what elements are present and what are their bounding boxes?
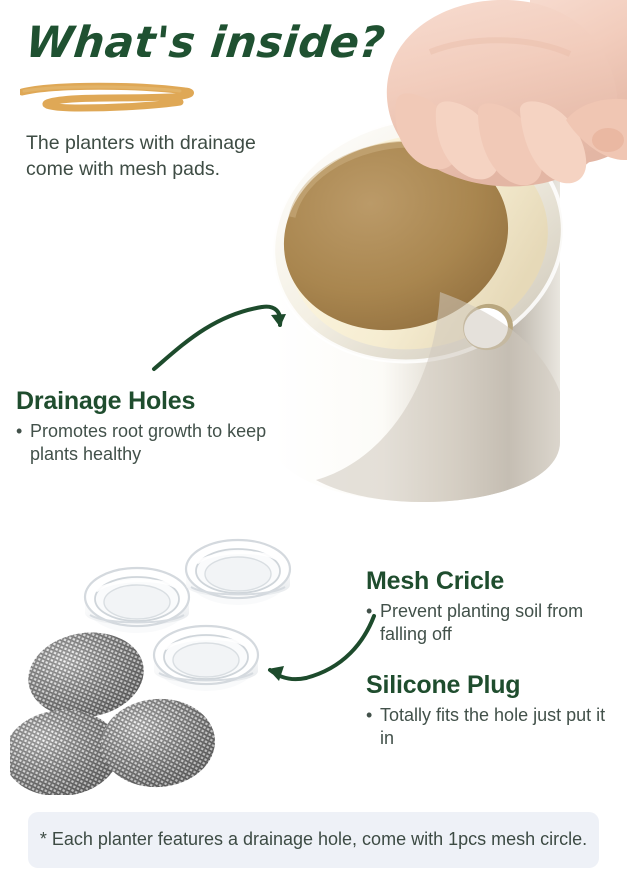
plug-bullet-list: • Totally fits the hole just put it in bbox=[366, 704, 624, 752]
silicone-plug-item bbox=[186, 540, 290, 605]
mesh-circles-and-silicone-plugs-photo bbox=[10, 525, 370, 795]
bullet-text: Promotes root growth to keep plants heal… bbox=[30, 421, 266, 465]
drainage-bullet-list: • Promotes root growth to keep plants he… bbox=[16, 420, 276, 468]
list-item: • Prevent planting soil from falling off bbox=[366, 600, 616, 648]
bullet-text: Totally fits the hole just put it in bbox=[380, 705, 605, 749]
section-mesh-circle: Mesh Cricle • Prevent planting soil from… bbox=[366, 568, 616, 647]
silicone-plug-item bbox=[154, 626, 258, 691]
list-item: • Totally fits the hole just put it in bbox=[366, 704, 624, 752]
parts-photo bbox=[10, 525, 370, 795]
silicone-plug-item bbox=[85, 568, 189, 633]
hand-holding-ceramic-planter-photo bbox=[230, 0, 627, 512]
pot-photo bbox=[230, 0, 627, 512]
infographic-page: What's inside? The planters with drainag… bbox=[0, 0, 627, 879]
footer-note-panel: * Each planter features a drainage hole,… bbox=[28, 812, 599, 868]
footer-note-text: * Each planter features a drainage hole,… bbox=[40, 828, 587, 851]
drainage-heading: Drainage Holes bbox=[16, 388, 276, 416]
bullet-icon: • bbox=[366, 600, 372, 624]
mesh-bullet-list: • Prevent planting soil from falling off bbox=[366, 600, 616, 648]
list-item: • Promotes root growth to keep plants he… bbox=[16, 420, 276, 468]
mesh-circle-item bbox=[98, 695, 218, 791]
bullet-text: Prevent planting soil from falling off bbox=[380, 601, 583, 645]
plug-heading: Silicone Plug bbox=[366, 672, 624, 700]
bullet-icon: • bbox=[366, 704, 372, 728]
section-drainage-holes: Drainage Holes • Promotes root growth to… bbox=[16, 388, 276, 467]
section-silicone-plug: Silicone Plug • Totally fits the hole ju… bbox=[366, 672, 624, 751]
bullet-icon: • bbox=[16, 420, 22, 444]
brush-swoosh-icon bbox=[20, 82, 210, 112]
mesh-heading: Mesh Cricle bbox=[366, 568, 616, 596]
